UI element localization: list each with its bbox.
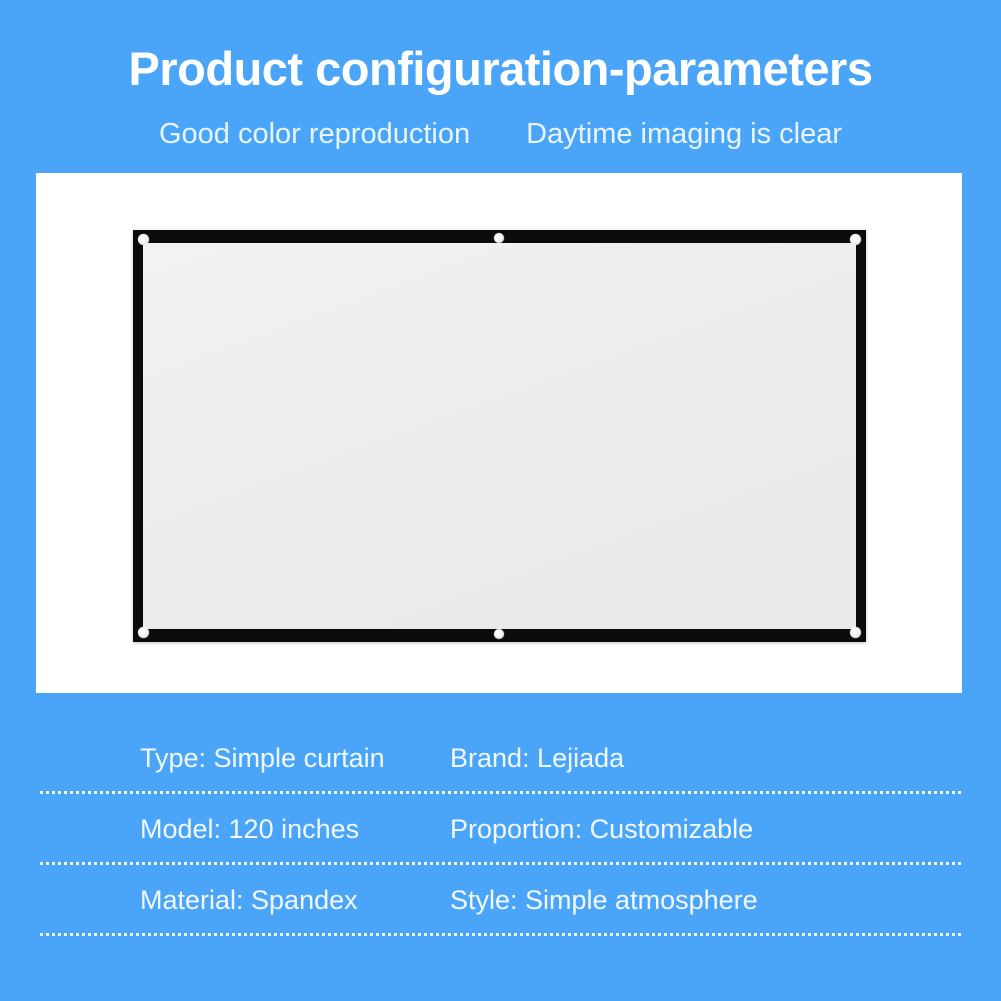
spec-type: Type: Simple curtain (40, 743, 450, 774)
row-divider (40, 933, 961, 936)
spec-proportion: Proportion: Customizable (450, 814, 753, 845)
spec-style: Style: Simple atmosphere (450, 885, 758, 916)
spec-brand: Brand: Lejiada (450, 743, 624, 774)
spec-model: Model: 120 inches (40, 814, 450, 845)
table-row: Material: Spandex Style: Simple atmosphe… (40, 865, 961, 936)
grommet-bottom-center-icon (494, 629, 504, 639)
projector-screen-surface (143, 243, 856, 629)
subtitle-good-color-reproduction: Good color reproduction (159, 118, 470, 151)
grommet-bottom-left-icon (138, 627, 149, 638)
projector-screen-frame (133, 230, 866, 642)
grommet-bottom-right-icon (850, 627, 861, 638)
grommet-top-center-icon (494, 233, 504, 243)
grommet-top-right-icon (850, 234, 861, 245)
spec-material: Material: Spandex (40, 885, 450, 916)
table-row: Model: 120 inches Proportion: Customizab… (40, 794, 961, 865)
infographic-page: Product configuration-parameters Good co… (0, 0, 1001, 1001)
table-row: Type: Simple curtain Brand: Lejiada (40, 723, 961, 794)
grommet-top-left-icon (138, 234, 149, 245)
product-image-card (36, 173, 962, 693)
specification-table: Type: Simple curtain Brand: Lejiada Mode… (40, 723, 961, 936)
header: Product configuration-parameters Good co… (0, 0, 1001, 173)
subtitle-row: Good color reproduction Daytime imaging … (0, 118, 1001, 151)
page-title: Product configuration-parameters (0, 44, 1001, 93)
subtitle-daytime-imaging-is-clear: Daytime imaging is clear (526, 118, 842, 151)
